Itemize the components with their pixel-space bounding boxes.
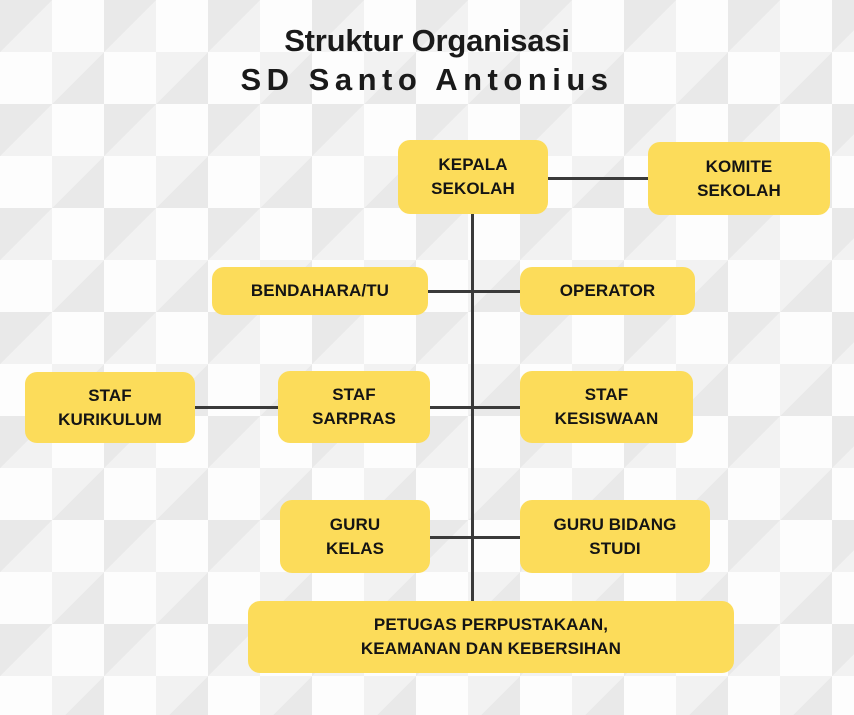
- node-petugas-line1: PETUGAS PERPUSTAKAAN,: [361, 613, 621, 637]
- connector-level4-crossbar: [429, 536, 521, 539]
- connector-level2-crossbar: [427, 290, 521, 293]
- node-komite-sekolah-line1: KOMITE: [697, 155, 781, 179]
- node-staf-sarpras-line1: STAF: [312, 383, 396, 407]
- connector-level3-crossbar: [429, 406, 521, 409]
- connector-kurikulum-to-sarpras: [194, 406, 279, 409]
- node-bendahara-tu-line1: BENDAHARA/TU: [251, 279, 389, 303]
- node-kepala-sekolah-line2: SEKOLAH: [431, 177, 515, 201]
- node-staf-kesiswaan[interactable]: STAF KESISWAAN: [520, 371, 693, 443]
- node-operator[interactable]: OPERATOR: [520, 267, 695, 315]
- node-staf-kurikulum-line2: KURIKULUM: [58, 408, 162, 432]
- node-staf-kesiswaan-line1: STAF: [555, 383, 659, 407]
- org-chart-canvas: Struktur Organisasi SD Santo Antonius KE…: [0, 0, 854, 715]
- title-line-primary: Struktur Organisasi: [0, 22, 854, 60]
- node-komite-sekolah-line2: SEKOLAH: [697, 179, 781, 203]
- node-komite-sekolah[interactable]: KOMITE SEKOLAH: [648, 142, 830, 215]
- node-staf-sarpras[interactable]: STAF SARPRAS: [278, 371, 430, 443]
- node-petugas-perpustakaan[interactable]: PETUGAS PERPUSTAKAAN, KEAMANAN DAN KEBER…: [248, 601, 734, 673]
- node-kepala-sekolah-line1: KEPALA: [431, 153, 515, 177]
- node-staf-kesiswaan-line2: KESISWAAN: [555, 407, 659, 431]
- node-staf-kurikulum-line1: STAF: [58, 384, 162, 408]
- node-guru-bidang-studi[interactable]: GURU BIDANG STUDI: [520, 500, 710, 573]
- node-staf-kurikulum[interactable]: STAF KURIKULUM: [25, 372, 195, 443]
- node-staf-sarpras-line2: SARPRAS: [312, 407, 396, 431]
- connector-kepala-to-komite: [547, 177, 649, 180]
- title-line-secondary: SD Santo Antonius: [0, 60, 854, 100]
- node-guru-kelas-line1: GURU: [326, 513, 384, 537]
- node-guru-bidang-studi-line1: GURU BIDANG: [554, 513, 677, 537]
- node-guru-kelas[interactable]: GURU KELAS: [280, 500, 430, 573]
- node-petugas-line2: KEAMANAN DAN KEBERSIHAN: [361, 637, 621, 661]
- node-bendahara-tu[interactable]: BENDAHARA/TU: [212, 267, 428, 315]
- node-guru-bidang-studi-line2: STUDI: [554, 537, 677, 561]
- node-kepala-sekolah[interactable]: KEPALA SEKOLAH: [398, 140, 548, 214]
- node-operator-line1: OPERATOR: [560, 279, 656, 303]
- page-title: Struktur Organisasi SD Santo Antonius: [0, 22, 854, 100]
- node-guru-kelas-line2: KELAS: [326, 537, 384, 561]
